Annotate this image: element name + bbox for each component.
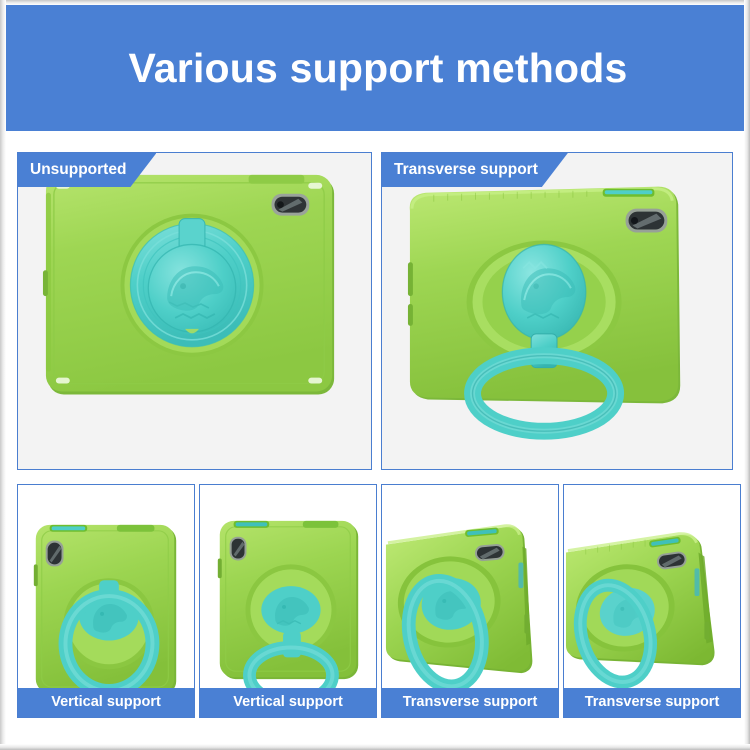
- infographic-page: Various support methods: [0, 0, 750, 750]
- camera-module-icon: [272, 194, 310, 216]
- panel-vertical-support-1: Vertical support: [17, 484, 195, 718]
- camera-module-icon: [230, 537, 247, 561]
- page-title: Various support methods: [129, 48, 628, 89]
- product-photo-unsupported: [18, 153, 371, 469]
- rotating-ring-holder: [120, 214, 263, 357]
- panel-caption-transverse-2: Transverse support: [564, 688, 740, 717]
- panel-label-text: Vertical support: [233, 695, 343, 710]
- product-photo-transverse-2: [564, 485, 740, 717]
- camera-module-icon: [46, 541, 64, 567]
- page-edge-left: [0, 0, 6, 750]
- page-edge-right: [744, 0, 750, 750]
- panel-caption-transverse-1: Transverse support: [382, 688, 558, 717]
- panel-unsupported: Unsupported: [17, 152, 372, 470]
- panel-vertical-support-2: Vertical support: [199, 484, 377, 718]
- panel-transverse-support-2: Transverse support: [563, 484, 741, 718]
- panel-label-text: Transverse support: [585, 695, 720, 710]
- camera-module-icon: [626, 209, 668, 233]
- product-photo-vertical-2: [200, 485, 376, 717]
- page-edge-top: [0, 0, 750, 5]
- product-photo-vertical-1: [18, 485, 194, 717]
- page-edge-bottom: [0, 744, 750, 750]
- panel-caption-vertical-1: Vertical support: [18, 688, 194, 717]
- product-photo-transverse-large: [382, 153, 732, 469]
- panel-transverse-support-large: Transverse support: [381, 152, 733, 470]
- panel-label-text: Transverse support: [394, 162, 538, 178]
- panel-label-text: Vertical support: [51, 695, 161, 710]
- header-banner: Various support methods: [6, 5, 750, 131]
- panel-caption-vertical-2: Vertical support: [200, 688, 376, 717]
- panel-label-tab-transverse-large: Transverse support: [382, 153, 568, 187]
- panel-transverse-support-1: Transverse support: [381, 484, 559, 718]
- panel-label-text: Unsupported: [30, 162, 126, 178]
- product-photo-transverse-1: [382, 485, 558, 717]
- panel-label-text: Transverse support: [403, 695, 538, 710]
